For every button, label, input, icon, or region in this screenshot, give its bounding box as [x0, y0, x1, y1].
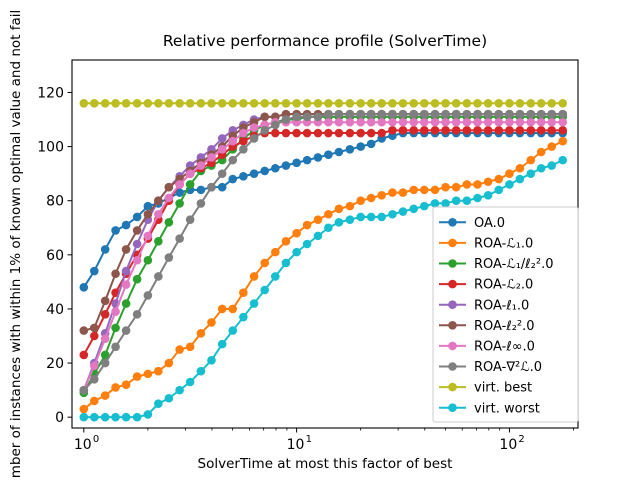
- series-marker: [250, 99, 259, 108]
- series-marker: [111, 269, 120, 278]
- series-marker: [144, 99, 153, 108]
- legend-item-label: ROA-ℓ₂².0: [474, 319, 535, 334]
- series-marker: [90, 375, 99, 384]
- series-marker: [292, 129, 301, 138]
- x-tick-label: 102: [499, 434, 524, 453]
- series-marker: [90, 397, 99, 406]
- series-marker: [494, 126, 503, 135]
- series-marker: [228, 156, 237, 165]
- legend-item-label: ROA-ℒ₂.0: [474, 278, 533, 293]
- series-marker: [292, 99, 301, 108]
- series-marker: [452, 99, 461, 108]
- series-marker: [133, 99, 142, 108]
- series-marker: [154, 210, 163, 219]
- series-marker: [165, 183, 174, 192]
- series-marker: [399, 188, 408, 197]
- legend-item-label: virt. best: [474, 381, 532, 396]
- series-marker: [516, 99, 525, 108]
- series-marker: [463, 180, 472, 189]
- legend-marker-swatch: [448, 342, 457, 351]
- series-marker: [399, 207, 408, 216]
- series-marker: [144, 232, 153, 241]
- series-marker: [228, 137, 237, 146]
- series-marker: [484, 110, 493, 119]
- series-marker: [324, 129, 333, 138]
- series-marker: [239, 145, 248, 154]
- series-marker: [516, 175, 525, 184]
- series-marker: [452, 183, 461, 192]
- series-marker: [186, 215, 195, 224]
- series-marker: [463, 196, 472, 205]
- series-marker: [377, 110, 386, 119]
- series-marker: [314, 99, 323, 108]
- series-marker: [271, 121, 280, 130]
- series-marker: [282, 259, 291, 268]
- series-marker: [133, 275, 142, 284]
- series-marker: [537, 110, 546, 119]
- series-marker: [154, 237, 163, 246]
- legend-marker-swatch: [448, 218, 457, 227]
- series-marker: [494, 175, 503, 184]
- series-marker: [175, 99, 184, 108]
- series-marker: [303, 99, 312, 108]
- series-marker: [154, 272, 163, 281]
- series-marker: [409, 118, 418, 127]
- series-marker: [122, 380, 131, 389]
- series-marker: [218, 145, 227, 154]
- x-axis-label: SolverTime at most this factor of best: [198, 456, 453, 472]
- series-marker: [207, 318, 216, 327]
- y-tick-label: 20: [46, 356, 64, 372]
- series-marker: [186, 378, 195, 387]
- series-marker: [399, 110, 408, 119]
- series-marker: [271, 99, 280, 108]
- series-marker: [228, 326, 237, 335]
- series-marker: [505, 180, 514, 189]
- series-marker: [346, 215, 355, 224]
- series-marker: [133, 310, 142, 319]
- series-marker: [218, 340, 227, 349]
- series-marker: [409, 99, 418, 108]
- series-marker: [473, 194, 482, 203]
- series-marker: [292, 159, 301, 168]
- series-marker: [505, 99, 514, 108]
- series-marker: [175, 234, 184, 243]
- series-marker: [271, 272, 280, 281]
- series-marker: [526, 99, 535, 108]
- series-marker: [303, 129, 312, 138]
- series-marker: [101, 359, 110, 368]
- series-marker: [122, 221, 131, 230]
- series-marker: [558, 156, 567, 165]
- series-marker: [558, 99, 567, 108]
- series-marker: [282, 129, 291, 138]
- series-marker: [537, 99, 546, 108]
- series-marker: [484, 126, 493, 135]
- svg-text:2: 2: [518, 434, 524, 445]
- series-marker: [133, 240, 142, 249]
- legend-marker-swatch: [448, 383, 457, 392]
- svg-text:10: 10: [74, 437, 92, 453]
- series-marker: [367, 194, 376, 203]
- series-marker: [431, 99, 440, 108]
- series-marker: [303, 240, 312, 249]
- series-marker: [186, 99, 195, 108]
- legend-item-label: ROA-ℒ₁.0: [474, 237, 533, 252]
- series-marker: [547, 126, 556, 135]
- series-marker: [165, 194, 174, 203]
- series-marker: [558, 137, 567, 146]
- series-marker: [197, 329, 206, 338]
- series-marker: [101, 310, 110, 319]
- series-marker: [90, 267, 99, 276]
- y-tick-label: 0: [55, 410, 64, 426]
- series-marker: [175, 345, 184, 354]
- chart-title: Relative performance profile (SolverTime…: [163, 32, 487, 50]
- series-marker: [165, 99, 174, 108]
- series-marker: [494, 110, 503, 119]
- series-marker: [133, 226, 142, 235]
- series-marker: [356, 99, 365, 108]
- series-marker: [388, 118, 397, 127]
- series-marker: [218, 169, 227, 178]
- series-marker: [260, 259, 269, 268]
- series-marker: [558, 126, 567, 135]
- series-marker: [494, 118, 503, 127]
- series-marker: [133, 256, 142, 265]
- series-marker: [90, 324, 99, 333]
- series-marker: [144, 256, 153, 265]
- series-marker: [335, 110, 344, 119]
- performance-profile-chart: Relative performance profile (SolverTime…: [0, 0, 640, 480]
- series-marker: [356, 118, 365, 127]
- series-marker: [547, 110, 556, 119]
- series-marker: [473, 118, 482, 127]
- series-marker: [516, 164, 525, 173]
- series-marker: [218, 134, 227, 143]
- figure-canvas: Relative performance profile (SolverTime…: [0, 0, 640, 480]
- series-marker: [526, 169, 535, 178]
- series-marker: [463, 126, 472, 135]
- series-marker: [250, 169, 259, 178]
- x-tick-label: 100: [74, 434, 99, 453]
- series-marker: [409, 110, 418, 119]
- series-marker: [218, 99, 227, 108]
- series-marker: [303, 113, 312, 122]
- series-marker: [165, 359, 174, 368]
- legend-marker-swatch: [448, 280, 457, 289]
- series-marker: [526, 118, 535, 127]
- y-tick-label: 120: [37, 85, 64, 101]
- series-marker: [377, 118, 386, 127]
- legend-item-label: OA.0: [474, 216, 505, 231]
- svg-text:10: 10: [287, 437, 305, 453]
- series-marker: [431, 199, 440, 208]
- series-marker: [165, 218, 174, 227]
- series-marker: [537, 148, 546, 157]
- series-marker: [282, 115, 291, 124]
- series-marker: [324, 110, 333, 119]
- series-marker: [80, 413, 89, 422]
- series-marker: [420, 99, 429, 108]
- series-marker: [420, 202, 429, 211]
- series-marker: [346, 129, 355, 138]
- series-marker: [90, 413, 99, 422]
- series-marker: [239, 129, 248, 138]
- series-marker: [122, 326, 131, 335]
- legend-marker-swatch: [448, 300, 457, 309]
- series-marker: [356, 213, 365, 222]
- series-marker: [367, 118, 376, 127]
- series-marker: [452, 196, 461, 205]
- svg-text:10: 10: [499, 437, 517, 453]
- series-marker: [441, 126, 450, 135]
- series-marker: [271, 164, 280, 173]
- series-marker: [431, 186, 440, 195]
- series-marker: [154, 367, 163, 376]
- series-marker: [111, 343, 120, 352]
- series-marker: [516, 110, 525, 119]
- series-marker: [101, 334, 110, 343]
- series-marker: [505, 169, 514, 178]
- series-marker: [377, 129, 386, 138]
- series-marker: [473, 110, 482, 119]
- legend-marker-swatch: [448, 321, 457, 330]
- series-marker: [484, 99, 493, 108]
- series-marker: [133, 372, 142, 381]
- series-marker: [441, 118, 450, 127]
- series-marker: [356, 129, 365, 138]
- legend-marker-swatch: [448, 239, 457, 248]
- series-marker: [367, 140, 376, 149]
- y-axis-ticks: 020406080100120: [37, 85, 72, 426]
- series-marker: [292, 113, 301, 122]
- series-marker: [356, 142, 365, 151]
- series-marker: [441, 99, 450, 108]
- series-marker: [111, 324, 120, 333]
- series-marker: [197, 161, 206, 170]
- series-marker: [239, 99, 248, 108]
- legend-item-label: virt. worst: [474, 401, 540, 416]
- series-marker: [101, 391, 110, 400]
- legend-marker-swatch: [448, 403, 457, 412]
- series-marker: [367, 129, 376, 138]
- series-marker: [547, 161, 556, 170]
- series-marker: [463, 118, 472, 127]
- series-marker: [463, 110, 472, 119]
- series-marker: [271, 248, 280, 257]
- series-marker: [314, 215, 323, 224]
- series-marker: [271, 129, 280, 138]
- series-marker: [420, 110, 429, 119]
- series-marker: [441, 199, 450, 208]
- legend-item-label: ROA-∇²ℒ.0: [474, 360, 542, 375]
- series-marker: [324, 210, 333, 219]
- series-marker: [388, 110, 397, 119]
- series-marker: [335, 118, 344, 127]
- series-marker: [452, 126, 461, 135]
- series-marker: [463, 99, 472, 108]
- series-marker: [292, 229, 301, 238]
- legend-item-label: ROA-ℓ₁.0: [474, 298, 529, 313]
- svg-text:1: 1: [306, 434, 312, 445]
- series-marker: [516, 118, 525, 127]
- series-marker: [228, 175, 237, 184]
- series-marker: [324, 150, 333, 159]
- series-marker: [207, 356, 216, 365]
- series-marker: [175, 199, 184, 208]
- series-marker: [90, 361, 99, 370]
- series-marker: [218, 183, 227, 192]
- y-tick-label: 100: [37, 140, 64, 156]
- series-marker: [346, 118, 355, 127]
- legend-item-label: ROA-ℓ∞.0: [474, 340, 535, 355]
- series-marker: [335, 205, 344, 214]
- series-marker: [505, 110, 514, 119]
- series-marker: [207, 183, 216, 192]
- series-marker: [250, 134, 259, 143]
- series-marker: [324, 99, 333, 108]
- series-marker: [144, 291, 153, 300]
- series-marker: [154, 399, 163, 408]
- series-marker: [409, 186, 418, 195]
- series-marker: [335, 99, 344, 108]
- y-axis-label: mber of instances with within 1% of know…: [8, 10, 24, 479]
- series-marker: [314, 113, 323, 122]
- series-marker: [484, 177, 493, 186]
- series-marker: [144, 370, 153, 379]
- series-marker: [122, 280, 131, 289]
- series-marker: [90, 99, 99, 108]
- series-marker: [494, 186, 503, 195]
- series-marker: [175, 180, 184, 189]
- series-marker: [111, 413, 120, 422]
- series-marker: [282, 237, 291, 246]
- series-marker: [388, 99, 397, 108]
- series-marker: [197, 367, 206, 376]
- y-tick-label: 80: [46, 194, 64, 210]
- chart-legend[interactable]: OA.0ROA-ℒ₁.0ROA-ℒ₁/ℓ₂².0ROA-ℒ₂.0ROA-ℓ₁.0…: [433, 207, 578, 422]
- series-marker: [101, 413, 110, 422]
- series-marker: [473, 126, 482, 135]
- series-marker: [260, 167, 269, 176]
- x-tick-label: 101: [287, 434, 312, 453]
- legend-item-label: ROA-ℒ₁/ℓ₂².0: [474, 257, 554, 272]
- series-marker: [260, 113, 269, 122]
- series-marker: [399, 99, 408, 108]
- series-marker: [494, 99, 503, 108]
- series-marker: [133, 213, 142, 222]
- series-marker: [239, 288, 248, 297]
- series-marker: [239, 313, 248, 322]
- series-marker: [122, 267, 131, 276]
- series-marker: [537, 164, 546, 173]
- series-marker: [314, 232, 323, 241]
- series-marker: [122, 245, 131, 254]
- series-marker: [473, 180, 482, 189]
- series-marker: [144, 210, 153, 219]
- series-marker: [122, 99, 131, 108]
- series-marker: [558, 110, 567, 119]
- series-marker: [228, 99, 237, 108]
- series-marker: [409, 126, 418, 135]
- series-marker: [452, 118, 461, 127]
- series-marker: [314, 153, 323, 162]
- series-marker: [335, 129, 344, 138]
- series-marker: [547, 99, 556, 108]
- series-marker: [154, 196, 163, 205]
- series-marker: [346, 99, 355, 108]
- series-marker: [111, 383, 120, 392]
- series-marker: [260, 126, 269, 135]
- series-marker: [558, 118, 567, 127]
- series-marker: [409, 205, 418, 214]
- series-marker: [239, 172, 248, 181]
- series-marker: [260, 99, 269, 108]
- series-marker: [154, 99, 163, 108]
- series-marker: [175, 386, 184, 395]
- series-marker: [537, 118, 546, 127]
- series-marker: [526, 110, 535, 119]
- series-marker: [292, 248, 301, 257]
- series-marker: [473, 99, 482, 108]
- series-marker: [335, 148, 344, 157]
- series-marker: [356, 196, 365, 205]
- series-marker: [101, 99, 110, 108]
- series-marker: [399, 126, 408, 135]
- series-marker: [431, 110, 440, 119]
- series-marker: [197, 99, 206, 108]
- series-marker: [186, 343, 195, 352]
- series-marker: [346, 145, 355, 154]
- series-marker: [186, 180, 195, 189]
- series-marker: [80, 99, 89, 108]
- series-marker: [207, 153, 216, 162]
- series-marker: [484, 118, 493, 127]
- series-marker: [165, 253, 174, 262]
- legend-marker-swatch: [448, 362, 457, 371]
- series-marker: [431, 126, 440, 135]
- series-marker: [186, 169, 195, 178]
- series-marker: [303, 156, 312, 165]
- series-marker: [80, 405, 89, 414]
- x-axis-ticks: 100101102: [74, 428, 574, 453]
- series-marker: [484, 191, 493, 200]
- series-marker: [526, 126, 535, 135]
- series-marker: [101, 297, 110, 306]
- series-marker: [282, 161, 291, 170]
- series-marker: [388, 188, 397, 197]
- series-marker: [547, 118, 556, 127]
- series-marker: [250, 299, 259, 308]
- series-marker: [122, 299, 131, 308]
- series-marker: [388, 126, 397, 135]
- series-marker: [431, 118, 440, 127]
- series-marker: [101, 245, 110, 254]
- series-marker: [250, 123, 259, 132]
- series-marker: [90, 332, 99, 341]
- series-marker: [122, 413, 131, 422]
- series-marker: [165, 394, 174, 403]
- series-marker: [367, 99, 376, 108]
- y-tick-label: 60: [46, 248, 64, 264]
- series-marker: [420, 186, 429, 195]
- series-marker: [346, 110, 355, 119]
- series-marker: [441, 110, 450, 119]
- series-marker: [250, 272, 259, 281]
- series-marker: [282, 99, 291, 108]
- series-marker: [356, 110, 365, 119]
